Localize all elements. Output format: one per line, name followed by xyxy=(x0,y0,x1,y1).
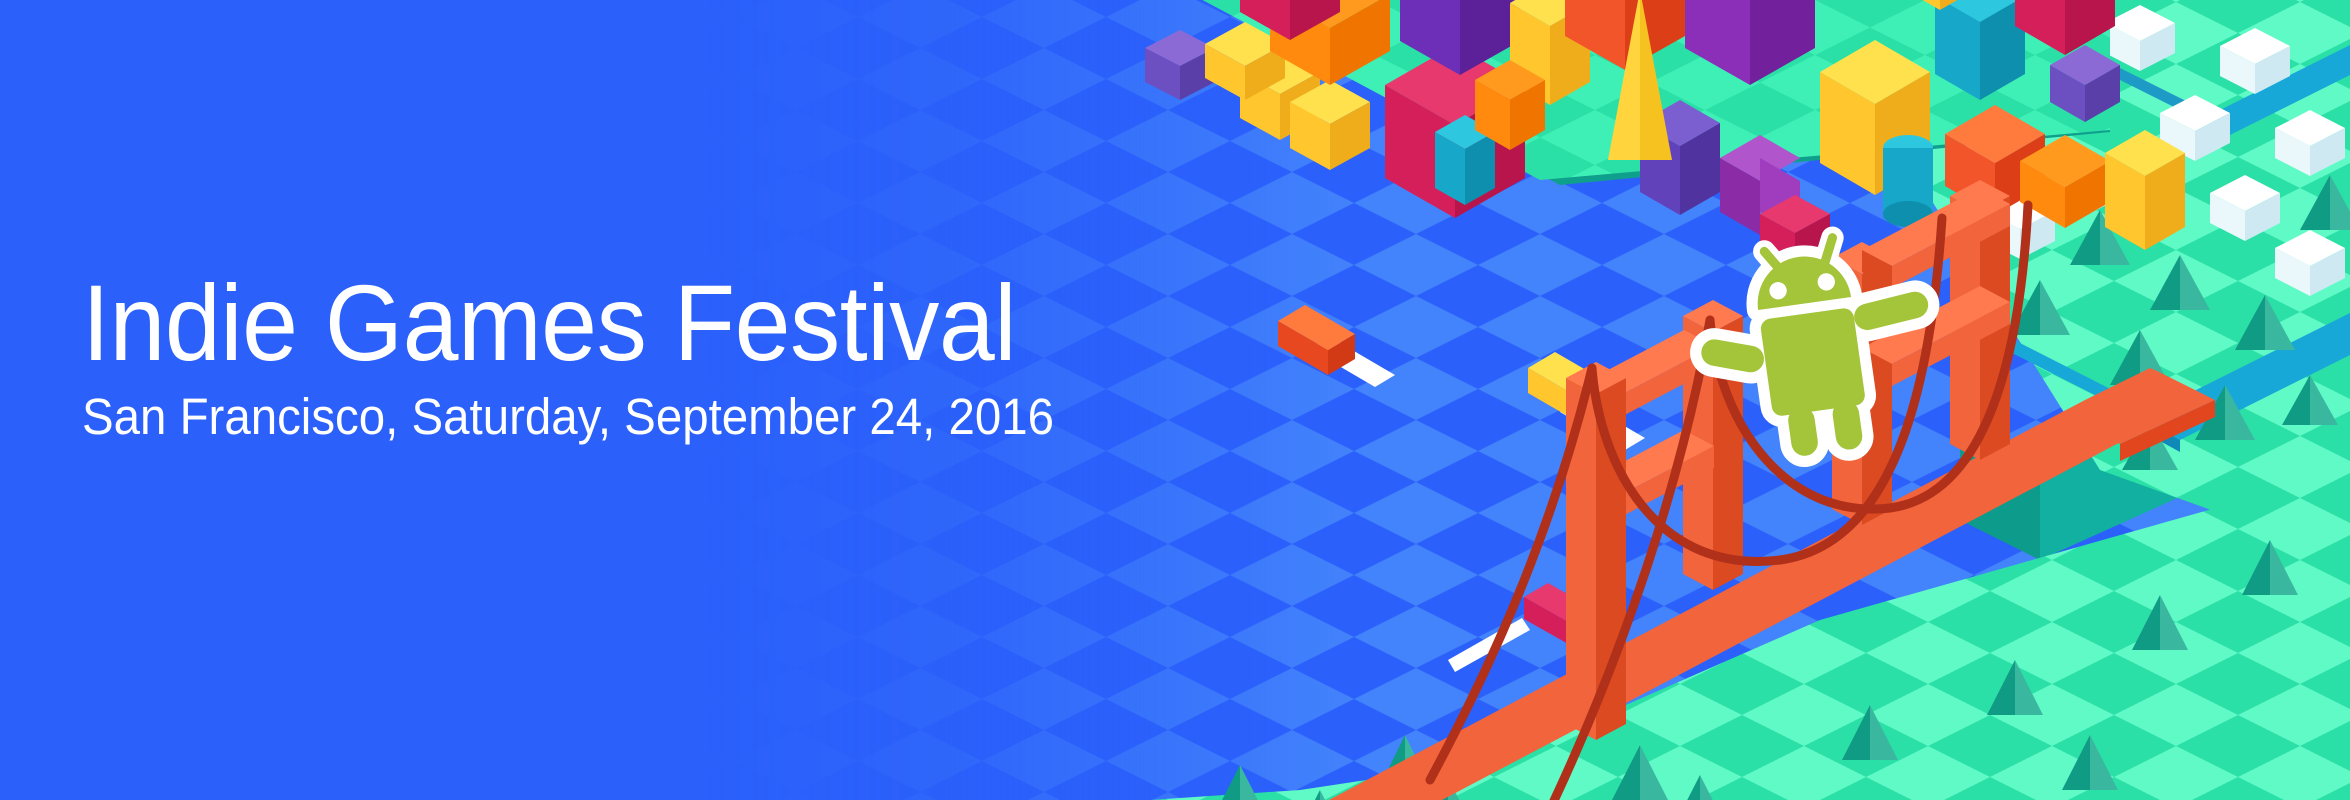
cylinder-building xyxy=(1883,135,1933,227)
indie-games-festival-banner: Indie Games Festival San Francisco, Satu… xyxy=(0,0,2350,800)
isometric-scene-illustration xyxy=(0,0,2350,800)
